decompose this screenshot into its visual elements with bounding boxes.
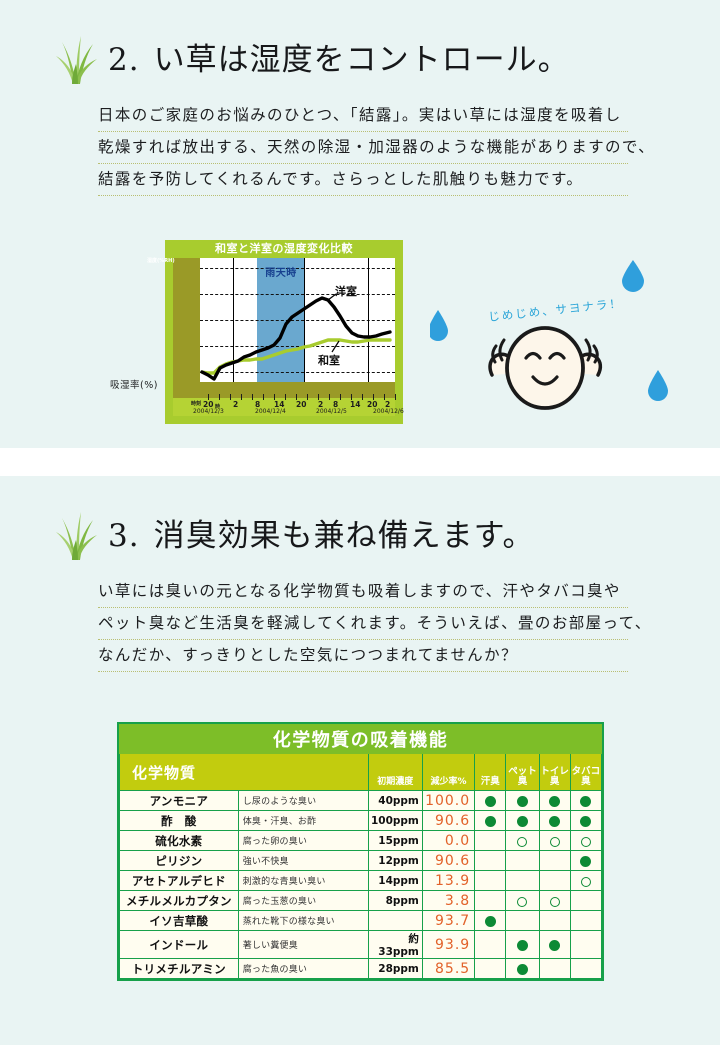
cell-odor-toilet <box>539 811 570 831</box>
cell-odor-pet <box>506 831 539 851</box>
table-row: トリメチルアミン腐った魚の臭い28ppm85.5 <box>120 959 602 979</box>
section2-title: い草は湿度をコントロール。 <box>154 42 570 78</box>
paragraph-line: ペット臭など生活臭を軽減してくれます。そういえば、畳のお部屋って、 <box>98 608 628 640</box>
cell-reduction: 85.5 <box>422 959 474 979</box>
cell-substance: ピリジン <box>120 851 239 871</box>
cell-odor-pet <box>506 791 539 811</box>
series-yoshitsu-line <box>202 298 390 379</box>
humidity-chart: 和室と洋室の湿度変化比較 湿度(%RH) <box>165 240 403 424</box>
header-odor-tobacco: タバコ臭 <box>570 754 601 791</box>
series-label-washitsu: 和室 <box>318 352 340 368</box>
cell-odor-tobacco <box>570 831 601 851</box>
mark-filled-icon <box>485 796 496 807</box>
water-drop-icon <box>648 370 668 401</box>
mascot-svg <box>430 250 680 420</box>
mark-open-icon <box>581 837 591 847</box>
cell-odor-sweat <box>475 851 506 871</box>
mark-filled-icon <box>517 964 528 975</box>
series-label-yoshitsu: 洋室 <box>335 283 357 299</box>
section3-paragraph: い草には臭いの元となる化学物質も吸着しますので、汗やタバコ臭や ペット臭など生活… <box>98 576 628 672</box>
label-leader <box>332 341 339 352</box>
cell-odor-toilet <box>539 871 570 891</box>
mark-filled-icon <box>580 856 591 867</box>
section-humidity: 2.い草は湿度をコントロール。 日本のご家庭のお悩みのひとつ、「結露」。実はい草… <box>0 0 720 448</box>
cell-concentration: 15ppm <box>368 831 422 851</box>
x-axis-date: 2004/12/5 <box>316 408 347 415</box>
x-tick-label: 2 <box>233 400 238 409</box>
x-axis-date: 2004/12/6 <box>373 408 404 415</box>
cell-reduction: 93.9 <box>422 931 474 959</box>
cell-description: 蒸れた靴下の様な臭い <box>238 911 368 931</box>
chemical-adsorption-table: 化学物質の吸着機能 化学物質 初期濃度 減少率% 汗臭 ペット臭 トイレ臭 タバ… <box>117 722 604 981</box>
cell-concentration: 8ppm <box>368 891 422 911</box>
table-row: インドール著しい糞便臭約33ppm93.9 <box>120 931 602 959</box>
cell-odor-tobacco <box>570 871 601 891</box>
cell-odor-toilet <box>539 851 570 871</box>
cell-odor-tobacco <box>570 811 601 831</box>
mark-open-icon <box>550 837 560 847</box>
series-washitsu-line <box>202 340 390 373</box>
header-concentration: 初期濃度 <box>368 754 422 791</box>
water-drop-icon <box>430 310 448 341</box>
cell-concentration: 14ppm <box>368 871 422 891</box>
table-row: メチルメルカプタン腐った玉葱の臭い8ppm3.8 <box>120 891 602 911</box>
paragraph-line: 日本のご家庭のお悩みのひとつ、「結露」。実はい草には湿度を吸着し <box>98 100 628 132</box>
section3-title-line: 3.消臭効果も兼ね備えます。 <box>108 510 534 555</box>
cell-reduction: 3.8 <box>422 891 474 911</box>
cell-odor-sweat <box>475 811 506 831</box>
paragraph-line: い草には臭いの元となる化学物質も吸着しますので、汗やタバコ臭や <box>98 576 628 608</box>
cell-substance: メチルメルカプタン <box>120 891 239 911</box>
x-axis-date: 2004/12/3 <box>193 408 224 415</box>
mark-filled-icon <box>580 796 591 807</box>
cell-reduction: 90.6 <box>422 851 474 871</box>
cell-odor-pet <box>506 931 539 959</box>
section2-paragraph: 日本のご家庭のお悩みのひとつ、「結露」。実はい草には湿度を吸着し 乾燥すれば放出… <box>98 100 628 196</box>
section2-number: 2. <box>108 42 140 78</box>
cell-description: 腐った魚の臭い <box>238 959 368 979</box>
cell-substance: アンモニア <box>120 791 239 811</box>
cell-odor-toilet <box>539 959 570 979</box>
cell-odor-toilet <box>539 891 570 911</box>
cell-substance: イソ吉草酸 <box>120 911 239 931</box>
cell-reduction: 100.0 <box>422 791 474 811</box>
section2-heading: 2.い草は湿度をコントロール。 <box>0 0 720 86</box>
chart-ylabel: 吸湿率(%) <box>110 377 158 391</box>
cell-odor-pet <box>506 811 539 831</box>
cell-concentration <box>368 911 422 931</box>
table-row: 硫化水素腐った卵の臭い15ppm0.0 <box>120 831 602 851</box>
chart-rain-label: 雨天時 <box>250 264 312 279</box>
mark-filled-icon <box>580 816 591 827</box>
water-drop-icon <box>622 260 644 292</box>
mascot-head <box>507 328 583 408</box>
cell-substance: トリメチルアミン <box>120 959 239 979</box>
section3-heading: 3.消臭効果も兼ね備えます。 <box>0 476 720 562</box>
cell-odor-sweat <box>475 931 506 959</box>
cell-substance: アセトアルデヒド <box>120 871 239 891</box>
cell-odor-toilet <box>539 931 570 959</box>
cell-substance: 酢 酸 <box>120 811 239 831</box>
table-header-row: 化学物質 初期濃度 減少率% 汗臭 ペット臭 トイレ臭 タバコ臭 <box>120 754 602 791</box>
cell-odor-sweat <box>475 959 506 979</box>
mark-open-icon <box>581 877 591 887</box>
cell-odor-sweat <box>475 911 506 931</box>
section2-title-line: 2.い草は湿度をコントロール。 <box>108 34 570 79</box>
table-row: イソ吉草酸蒸れた靴下の様な臭い93.7 <box>120 911 602 931</box>
cell-odor-pet <box>506 959 539 979</box>
cell-concentration: 100ppm <box>368 811 422 831</box>
cell-description: 著しい糞便臭 <box>238 931 368 959</box>
header-reduction: 減少率% <box>422 754 474 791</box>
x-tick-label: 14 <box>350 400 360 409</box>
header-odor-toilet: トイレ臭 <box>539 754 570 791</box>
cell-reduction: 90.6 <box>422 811 474 831</box>
paragraph-line: 乾燥すれば放出する、天然の除湿・加湿器のような機能がありますので、 <box>98 132 628 164</box>
cell-odor-tobacco <box>570 959 601 979</box>
x-axis-date: 2004/12/4 <box>255 408 286 415</box>
mark-filled-icon <box>485 916 496 927</box>
table-row: 酢 酸体臭・汗臭、お酢100ppm90.6 <box>120 811 602 831</box>
cell-concentration: 12ppm <box>368 851 422 871</box>
cell-odor-sweat <box>475 891 506 911</box>
grass-icon <box>50 26 102 86</box>
cell-odor-pet <box>506 891 539 911</box>
paragraph-line: なんだか、すっきりとした空気につつまれてませんか？ <box>98 640 628 672</box>
chart-yunit: 湿度(%RH) <box>147 257 175 264</box>
cell-odor-pet <box>506 871 539 891</box>
cell-concentration: 28ppm <box>368 959 422 979</box>
cell-description: し尿のような臭い <box>238 791 368 811</box>
cell-odor-tobacco <box>570 851 601 871</box>
mark-open-icon <box>517 837 527 847</box>
cell-odor-pet <box>506 911 539 931</box>
cell-description: 刺激的な青臭い臭い <box>238 871 368 891</box>
cell-reduction: 93.7 <box>422 911 474 931</box>
cell-odor-tobacco <box>570 791 601 811</box>
cell-odor-pet <box>506 851 539 871</box>
table-row: ピリジン強い不快臭12ppm90.6 <box>120 851 602 871</box>
cell-description: 体臭・汗臭、お酢 <box>238 811 368 831</box>
mark-filled-icon <box>485 816 496 827</box>
cell-substance: 硫化水素 <box>120 831 239 851</box>
cell-description: 強い不快臭 <box>238 851 368 871</box>
cell-odor-sweat <box>475 871 506 891</box>
cell-odor-sweat <box>475 831 506 851</box>
mark-filled-icon <box>549 940 560 951</box>
cell-description: 腐った卵の臭い <box>238 831 368 851</box>
chart-plot-area: 湿度(%RH) <box>173 258 395 398</box>
cell-odor-toilet <box>539 911 570 931</box>
chart-xaxis: 時刻 20 時 2 8 14 20 2 8 14 20 2 2004/12/3 … <box>173 398 395 416</box>
paragraph-line: 結露を予防してくれるんです。さらっとした肌触りも魅力です。 <box>98 164 628 196</box>
mark-filled-icon <box>549 816 560 827</box>
cell-reduction: 13.9 <box>422 871 474 891</box>
cell-odor-toilet <box>539 791 570 811</box>
mascot-illustration: じめじめ、サヨナラ！ <box>430 250 680 420</box>
mark-filled-icon <box>549 796 560 807</box>
cell-odor-sweat <box>475 791 506 811</box>
table-row: アンモニアし尿のような臭い40ppm100.0 <box>120 791 602 811</box>
cell-reduction: 0.0 <box>422 831 474 851</box>
x-tick-label: 20 <box>296 400 306 409</box>
cell-concentration: 約33ppm <box>368 931 422 959</box>
cell-odor-tobacco <box>570 931 601 959</box>
cell-odor-tobacco <box>570 891 601 911</box>
header-odor-pet: ペット臭 <box>506 754 539 791</box>
mark-filled-icon <box>517 816 528 827</box>
section3-number: 3. <box>108 518 140 554</box>
mark-open-icon <box>517 897 527 907</box>
cell-substance: インドール <box>120 931 239 959</box>
section-divider <box>0 448 720 476</box>
mark-filled-icon <box>517 940 528 951</box>
table-row: アセトアルデヒド刺激的な青臭い臭い14ppm13.9 <box>120 871 602 891</box>
section3-title: 消臭効果も兼ね備えます。 <box>154 518 535 554</box>
cell-concentration: 40ppm <box>368 791 422 811</box>
cell-description: 腐った玉葱の臭い <box>238 891 368 911</box>
header-substance: 化学物質 <box>120 754 369 791</box>
chart-title: 和室と洋室の湿度変化比較 <box>165 240 403 257</box>
mark-filled-icon <box>517 796 528 807</box>
grass-icon <box>50 502 102 562</box>
cell-odor-toilet <box>539 831 570 851</box>
chart-canvas: 雨天時 洋室 和室 55 50 45 40 35 <box>200 258 395 382</box>
mark-open-icon <box>550 897 560 907</box>
table-body: アンモニアし尿のような臭い40ppm100.0酢 酸体臭・汗臭、お酢100ppm… <box>120 791 602 979</box>
cell-odor-tobacco <box>570 911 601 931</box>
x-axis-time-label: 時刻 <box>191 400 201 407</box>
table-title: 化学物質の吸着機能 <box>120 725 602 754</box>
header-odor-sweat: 汗臭 <box>475 754 506 791</box>
